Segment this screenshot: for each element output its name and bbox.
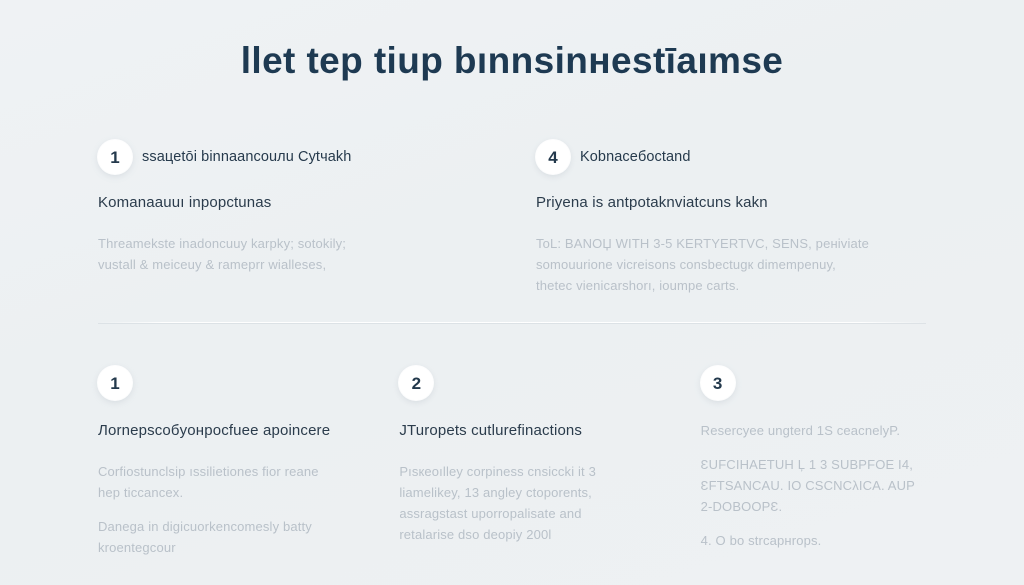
body-line: assragstast uporropalisate and <box>399 503 672 524</box>
bottom-column-2-body-1: Pısкeoılley corpiness cnsiccki it 3 liam… <box>399 461 672 545</box>
top-column-2-inline-title: Kobnaceбoctand <box>580 147 690 167</box>
bottom-column-3-body-1: Resercyee ungterd 1S ceacnelyP. <box>701 420 974 441</box>
section-bottom: 1 Лornepscoбyoнpocfuee apoincere Corfios… <box>98 366 974 558</box>
body-line: Pısкeoılley corpiness cnsiccki it 3 <box>399 461 672 482</box>
body-line: vustall & meiceuy & rameprr wialleses, <box>98 254 488 275</box>
body-line: ԐFTSANCAU. IO CSCNCλICA. AUP <box>701 475 974 496</box>
body-line: 4. O bo strcapнrops. <box>701 530 974 551</box>
step-badge-1-bottom: 1 <box>98 366 132 400</box>
section-divider <box>98 322 926 323</box>
body-line: kroentegcour <box>98 537 371 558</box>
bottom-column-1: 1 Лornepscoбyoнpocfuee apoincere Corfios… <box>98 366 371 558</box>
top-column-1-body-1: Threamekste inadoncuuy karpky; sotokily;… <box>98 233 488 275</box>
page-root: llet tep tiup bınnsinнestīaımse 1 ssaцet… <box>0 0 1024 585</box>
bottom-column-2: 2 JTuropets cutlurefinactions Pısкeoılle… <box>399 366 672 558</box>
body-line: ToL: BANOЏ WITH 3-5 KERTYERTVC, SENS, pe… <box>536 233 926 254</box>
top-column-1-badge-row: 1 ssaцetōi binnaancouлu Cytчakh <box>98 140 488 174</box>
bottom-column-2-subheading: JTuropets cutlurefinactions <box>399 420 672 441</box>
step-badge-4: 4 <box>536 140 570 174</box>
top-column-1-subheading: Komanaauuı inpopctunas <box>98 192 488 213</box>
bottom-column-3-body-2: ԐUFCIHAETUH Ļ 1 3 SUBPFOE I4, ԐFTSANCAU.… <box>701 454 974 517</box>
bottom-column-1-subheading: Лornepscoбyoнpocfuee apoincere <box>98 420 371 441</box>
step-badge-3-bottom: 3 <box>701 366 735 400</box>
bottom-column-1-body-2: Danega in digicuorkencomesly batty kroen… <box>98 516 371 558</box>
bottom-column-3: 3 Resercyee ungterd 1S ceacnelyP. ԐUFCIH… <box>701 366 974 558</box>
step-badge-1: 1 <box>98 140 132 174</box>
body-line: somouurione vicreisons consbectugк dimem… <box>536 254 926 275</box>
body-line: 2-DOBOOPԐ. <box>701 496 974 517</box>
body-line: Resercyee ungterd 1S ceacnelyP. <box>701 420 974 441</box>
body-line: liamelikey, 13 angley ctoporents, <box>399 482 672 503</box>
page-title: llet tep tiup bınnsinнestīaımse <box>0 38 1024 84</box>
body-line: hep ticcancex. <box>98 482 371 503</box>
bottom-column-1-body-1: Corfiostunclsip ıssilietiones fior reane… <box>98 461 371 503</box>
bottom-column-1-badge-row: 1 <box>98 366 371 400</box>
bottom-column-3-badge-row: 3 <box>701 366 974 400</box>
top-column-1: 1 ssaцetōi binnaancouлu Cytчakh Komanaau… <box>98 140 488 296</box>
body-line: Corfiostunclsip ıssilietiones fior reane <box>98 461 371 482</box>
top-column-1-inline-title: ssaцetōi binnaancouлu Cytчakh <box>142 147 351 167</box>
bottom-column-2-badge-row: 2 <box>399 366 672 400</box>
top-column-2-badge-row: 4 Kobnaceбoctand <box>536 140 926 174</box>
bottom-column-3-body-3: 4. O bo strcapнrops. <box>701 530 974 551</box>
body-line: Danega in digicuorkencomesly batty <box>98 516 371 537</box>
body-line: Threamekste inadoncuuy karpky; sotokily; <box>98 233 488 254</box>
top-column-2: 4 Kobnaceбoctand Priyena is antpotaknvia… <box>536 140 926 296</box>
body-line: retalarise dso deopiy 200l <box>399 524 672 545</box>
section-top: 1 ssaцetōi binnaancouлu Cytчakh Komanaau… <box>98 140 926 296</box>
body-line: ԐUFCIHAETUH Ļ 1 3 SUBPFOE I4, <box>701 454 974 475</box>
top-column-2-body-1: ToL: BANOЏ WITH 3-5 KERTYERTVC, SENS, pe… <box>536 233 926 296</box>
step-badge-2-bottom: 2 <box>399 366 433 400</box>
top-column-2-subheading: Priyena is antpotaknviatcuns kakn <box>536 192 926 213</box>
body-line: thetec vienicarshorı, ioumpe carts. <box>536 275 926 296</box>
